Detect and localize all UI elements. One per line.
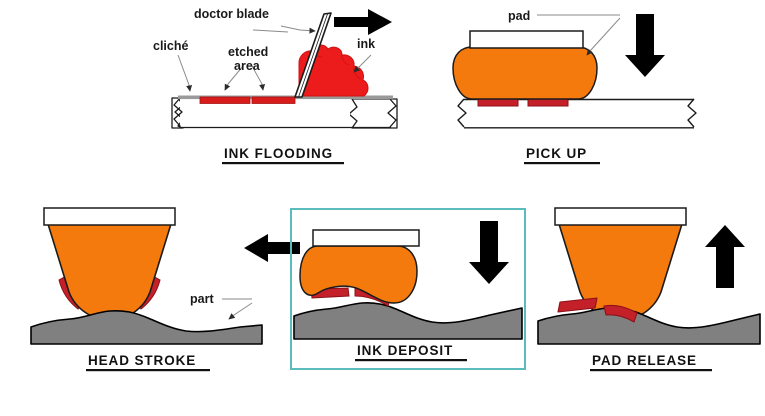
label-etched-area-line2: area xyxy=(234,59,261,73)
caption-ink-flooding: INK FLOODING xyxy=(224,146,333,161)
label-part: part xyxy=(190,292,214,306)
label-cliche: cliché xyxy=(153,39,188,53)
etched-recess-2 xyxy=(252,97,295,104)
pad-printing-diagram: doctor blade cliché etched area ink INK … xyxy=(0,0,765,416)
label-ink: ink xyxy=(357,37,375,51)
caption-underline-pick-up xyxy=(524,162,600,164)
caption-head-stroke: HEAD STROKE xyxy=(88,353,196,368)
label-etched-area-line1: etched xyxy=(228,45,268,59)
caption-underline-pad-release xyxy=(590,369,712,371)
pickup-ink-recess-1 xyxy=(478,99,518,106)
caption-underline-ink-deposit xyxy=(355,359,467,361)
pickup-pad-plate xyxy=(470,31,583,48)
caption-underline-head-stroke xyxy=(86,369,210,371)
inkdeposit-pad-plate xyxy=(313,230,419,246)
pickup-pad-body xyxy=(453,47,597,99)
caption-underline-ink-flooding xyxy=(222,162,344,164)
pickup-ink-recess-2 xyxy=(528,99,568,106)
caption-pad-release: PAD RELEASE xyxy=(592,353,697,368)
label-doctor-blade: doctor blade xyxy=(194,7,269,21)
label-pad: pad xyxy=(508,9,530,23)
caption-pick-up: PICK UP xyxy=(526,146,587,161)
padrelease-pad-plate xyxy=(555,208,686,225)
headstroke-pad-plate xyxy=(44,208,175,225)
etched-recess-1 xyxy=(200,97,250,104)
caption-ink-deposit: INK DEPOSIT xyxy=(357,343,453,358)
